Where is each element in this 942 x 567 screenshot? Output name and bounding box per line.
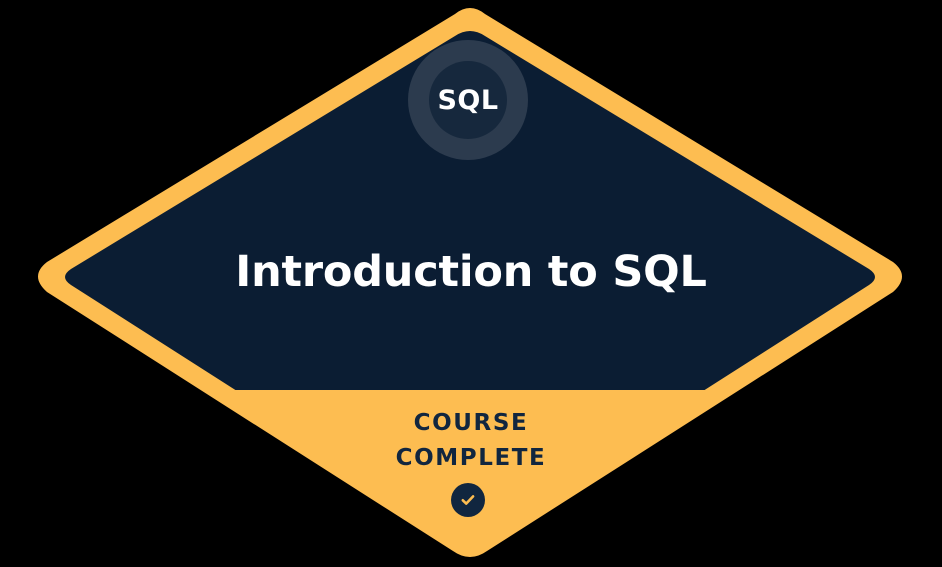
course-completion-badge: SQL Introduction to SQL COURSE COMPLETE: [0, 0, 942, 567]
check-circle-icon: [451, 483, 485, 517]
sql-ring-emblem: SQL: [408, 40, 528, 160]
completion-line-one: COURSE: [0, 406, 942, 441]
completion-status: COURSE COMPLETE: [0, 406, 942, 476]
completion-line-two: COMPLETE: [0, 441, 942, 476]
course-title: Introduction to SQL: [0, 245, 942, 299]
sql-emblem-label: SQL: [437, 87, 498, 114]
